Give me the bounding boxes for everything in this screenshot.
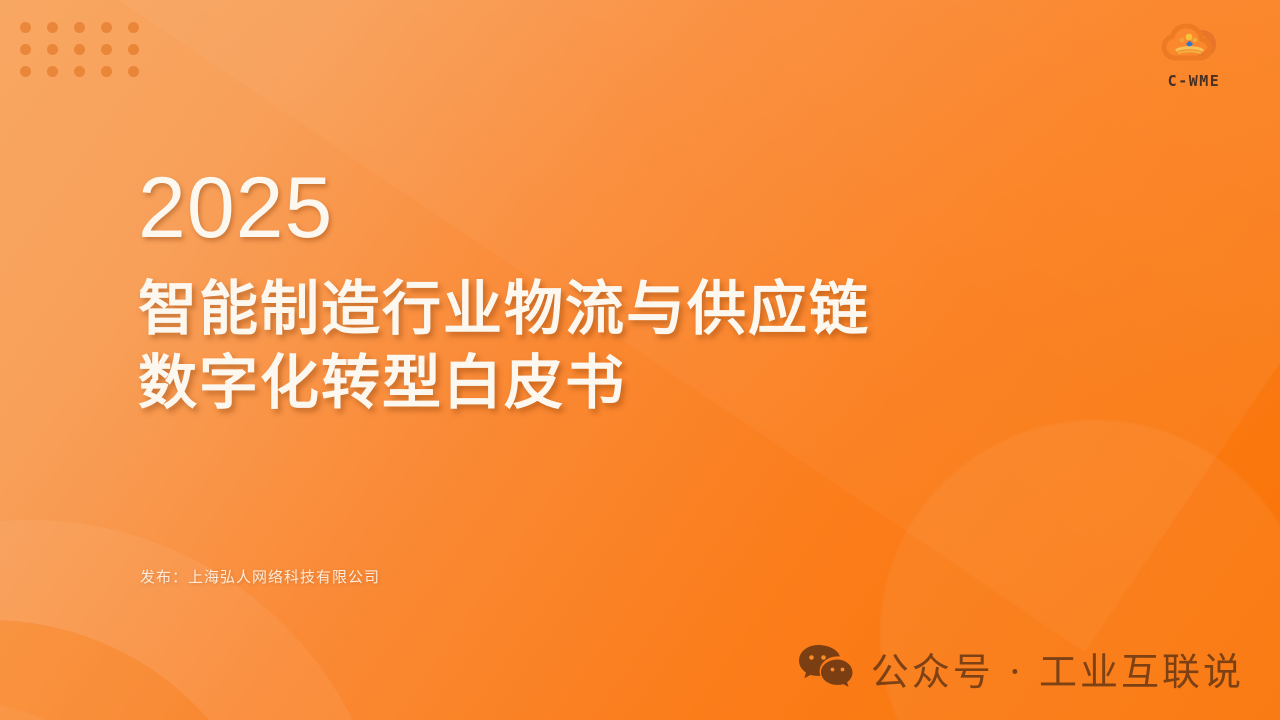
logo-wordmark: C-WME (1142, 72, 1246, 90)
grid-dot (74, 66, 85, 77)
watermark-label: 公众号 · 工业互联说 (871, 641, 1244, 696)
grid-dot (101, 66, 112, 77)
title-block: 2025 智能制造行业物流与供应链 数字化转型白皮书 (138, 168, 1098, 420)
grid-dot (20, 44, 31, 55)
brand-logo: C-WME (1142, 18, 1246, 90)
grid-dot (74, 22, 85, 33)
grid-dot (47, 22, 58, 33)
decorative-arc-inner (0, 700, 170, 720)
grid-dot (128, 66, 139, 77)
title-slide: C-WME 2025 智能制造行业物流与供应链 数字化转型白皮书 发布：上海弘人… (0, 0, 1280, 720)
publisher-label: 发布：上海弘人网络科技有限公司 (140, 566, 380, 587)
grid-dot (101, 22, 112, 33)
grid-dot (128, 22, 139, 33)
year-label: 2025 (138, 168, 1098, 250)
headline-line-1: 智能制造行业物流与供应链 (138, 272, 1098, 346)
grid-dot (20, 22, 31, 33)
headline-line-2: 数字化转型白皮书 (138, 346, 1098, 420)
wechat-watermark: 公众号 · 工业互联说 (797, 641, 1244, 696)
decorative-arc-middle (0, 620, 280, 720)
grid-dot (101, 44, 112, 55)
grid-dot (74, 44, 85, 55)
decorative-arc-outer (0, 520, 390, 720)
wechat-icon (797, 643, 855, 694)
grid-dot (47, 66, 58, 77)
grid-dot (47, 44, 58, 55)
page-title: 智能制造行业物流与供应链 数字化转型白皮书 (138, 272, 1098, 421)
grid-dot (128, 44, 139, 55)
dot-grid-decoration (20, 22, 155, 88)
cloud-logo-icon (1142, 18, 1246, 70)
grid-dot (20, 66, 31, 77)
